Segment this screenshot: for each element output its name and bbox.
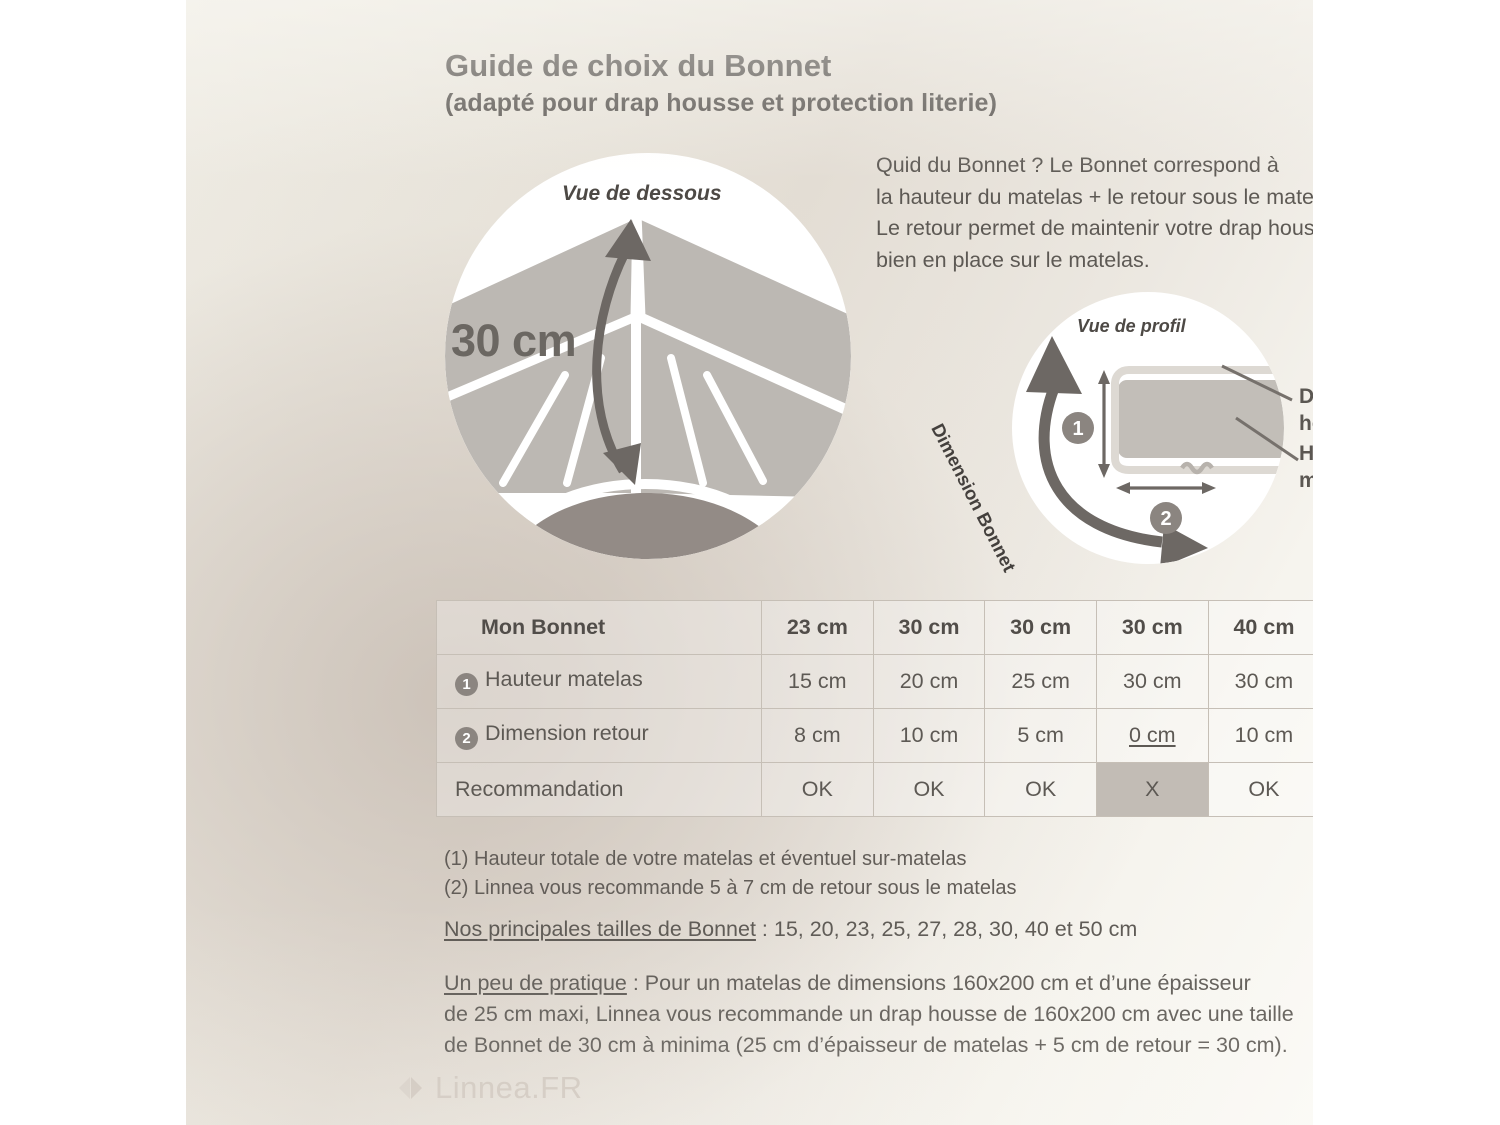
- bottom-view-measure-label: 30 cm: [451, 315, 576, 367]
- infographic-canvas: Guide de choix du Bonnet (adapté pour dr…: [0, 0, 1500, 1125]
- rowhead-recommandation: Recommandation: [437, 763, 762, 817]
- footnote-2: (2) Linnea vous recommande 5 à 7 cm de r…: [444, 874, 1313, 903]
- callout-drap-housse: Drap housse: [1299, 383, 1313, 437]
- cell-reco-2: OK: [985, 763, 1097, 817]
- table-header-row: Mon Bonnet 23 cm 30 cm 30 cm 30 cm 40 cm…: [437, 601, 1314, 655]
- page-title: Guide de choix du Bonnet: [445, 48, 1205, 84]
- intro-line-4: bien en place sur le matelas.: [876, 245, 1313, 277]
- cell-hauteur-0: 15 cm: [762, 655, 874, 709]
- bottom-view-label: Vue de dessous: [562, 182, 722, 206]
- rowhead-hauteur-label: Hauteur matelas: [485, 667, 643, 691]
- profile-badge-1: 1: [1072, 418, 1083, 440]
- rowhead-dimension-retour: 2Dimension retour: [437, 709, 762, 763]
- table-row-recommandation: Recommandation OK OK OK X OK OK: [437, 763, 1314, 817]
- footnote-1: (1) Hauteur totale de votre matelas et é…: [444, 845, 1313, 874]
- table-header-col-1: 30 cm: [873, 601, 985, 655]
- cell-reco-4: OK: [1208, 763, 1313, 817]
- table-header-col-3: 30 cm: [1096, 601, 1208, 655]
- profile-badge-2: 2: [1160, 508, 1171, 530]
- callout-hauteur-line-2: matelas: [1299, 467, 1313, 494]
- cell-retour-4: 10 cm: [1208, 709, 1313, 763]
- callout-hauteur-matelas: Hauteur matelas: [1299, 440, 1313, 494]
- logo-text: Linnea.FR: [435, 1070, 583, 1106]
- badge-1-icon: 1: [455, 673, 478, 696]
- cell-retour-2: 5 cm: [985, 709, 1097, 763]
- cell-reco-3: X: [1096, 763, 1208, 817]
- linnea-logo[interactable]: Linnea.FR: [398, 1070, 583, 1106]
- sizes-line: Nos principales tailles de Bonnet : 15, …: [444, 915, 1313, 944]
- practice-line-3: de Bonnet de 30 cm à minima (25 cm d’épa…: [444, 1030, 1313, 1061]
- cell-retour-3-value: 0 cm: [1129, 723, 1176, 747]
- table-header-col-0: 23 cm: [762, 601, 874, 655]
- cell-reco-1: OK: [873, 763, 985, 817]
- intro-line-1: Quid du Bonnet ? Le Bonnet correspond à: [876, 150, 1313, 182]
- content-panel: Guide de choix du Bonnet (adapté pour dr…: [186, 0, 1313, 1125]
- practice-line-1-rest: : Pour un matelas de dimensions 160x200 …: [627, 971, 1251, 995]
- diamond-arrow-icon: [398, 1075, 424, 1101]
- bonnet-table-wrapper: Mon Bonnet 23 cm 30 cm 30 cm 30 cm 40 cm…: [436, 600, 1313, 817]
- dimension-bonnet-label: Dimension Bonnet: [926, 420, 1020, 576]
- intro-paragraph: Quid du Bonnet ? Le Bonnet correspond à …: [876, 150, 1313, 276]
- profile-view-label: Vue de profil: [1077, 316, 1186, 337]
- rowhead-hauteur-matelas: 1Hauteur matelas: [437, 655, 762, 709]
- cell-retour-3: 0 cm: [1096, 709, 1208, 763]
- title-block: Guide de choix du Bonnet (adapté pour dr…: [445, 48, 1205, 118]
- bonnet-table: Mon Bonnet 23 cm 30 cm 30 cm 30 cm 40 cm…: [436, 600, 1313, 817]
- intro-line-2: la hauteur du matelas + le retour sous l…: [876, 182, 1313, 214]
- sizes-line-rest: : 15, 20, 23, 25, 27, 28, 30, 40 et 50 c…: [756, 917, 1137, 941]
- table-header-col-4: 40 cm: [1208, 601, 1313, 655]
- cell-reco-0: OK: [762, 763, 874, 817]
- cell-hauteur-3: 30 cm: [1096, 655, 1208, 709]
- table-row-dimension-retour: 2Dimension retour 8 cm 10 cm 5 cm 0 cm 1…: [437, 709, 1314, 763]
- cell-retour-0: 8 cm: [762, 709, 874, 763]
- table-header-mon-bonnet: Mon Bonnet: [437, 601, 762, 655]
- badge-2-icon: 2: [455, 727, 478, 750]
- table-row-hauteur-matelas: 1Hauteur matelas 15 cm 20 cm 25 cm 30 cm…: [437, 655, 1314, 709]
- practice-line-1: Un peu de pratique : Pour un matelas de …: [444, 968, 1313, 999]
- rowhead-retour-label: Dimension retour: [485, 721, 649, 745]
- table-header-col-2: 30 cm: [985, 601, 1097, 655]
- callout-hauteur-line-1: Hauteur: [1299, 440, 1313, 467]
- practice-line-2: de 25 cm maxi, Linnea vous recommande un…: [444, 999, 1313, 1030]
- footnotes-block: (1) Hauteur totale de votre matelas et é…: [444, 845, 1313, 903]
- cell-hauteur-4: 30 cm: [1208, 655, 1313, 709]
- practice-block: Un peu de pratique : Pour un matelas de …: [444, 968, 1313, 1061]
- cell-hauteur-2: 25 cm: [985, 655, 1097, 709]
- cell-hauteur-1: 20 cm: [873, 655, 985, 709]
- practice-label: Un peu de pratique: [444, 971, 627, 995]
- cell-retour-1: 10 cm: [873, 709, 985, 763]
- intro-line-3: Le retour permet de maintenir votre drap…: [876, 213, 1313, 245]
- page-subtitle: (adapté pour drap housse et protection l…: [445, 88, 1205, 119]
- sizes-line-label: Nos principales tailles de Bonnet: [444, 917, 756, 941]
